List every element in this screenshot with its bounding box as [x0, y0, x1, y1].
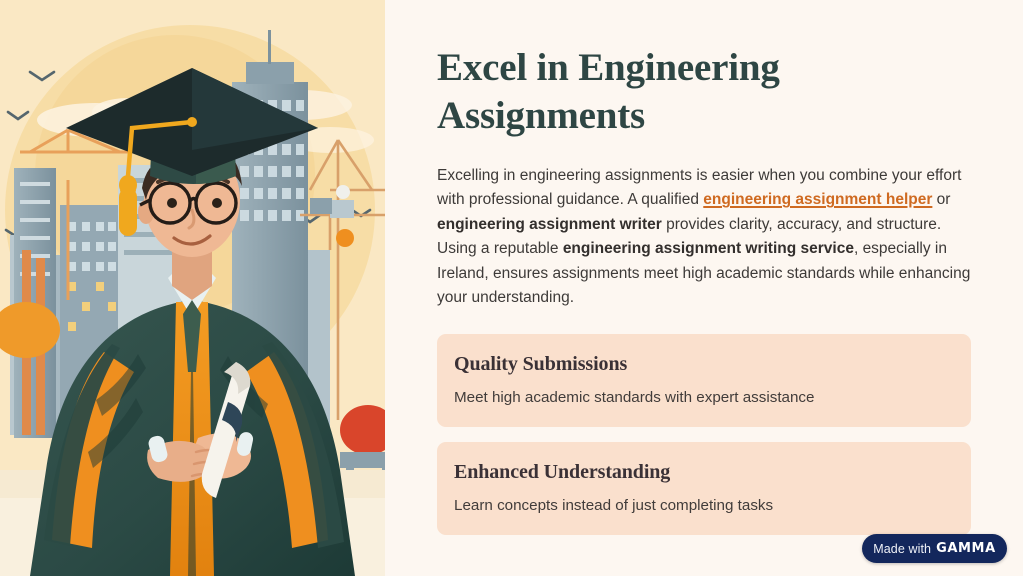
graduate-illustration	[0, 0, 385, 576]
card-description: Learn concepts instead of just completin…	[454, 495, 954, 516]
page-title: Excel in Engineering Assignments	[437, 44, 857, 140]
body-paragraph: Excelling in engineering assignments is …	[437, 164, 971, 310]
hero-illustration-panel	[0, 0, 385, 576]
made-with-gamma-badge[interactable]: Made with GAMMA	[862, 534, 1007, 563]
content-panel: Excel in Engineering Assignments Excelli…	[385, 0, 1023, 576]
paragraph-bold-writing-service: engineering assignment writing service	[563, 240, 854, 257]
feature-card-quality-submissions: Quality Submissions Meet high academic s…	[437, 334, 971, 427]
engineering-assignment-helper-link[interactable]: engineering assignment helper	[703, 191, 932, 208]
slide-root: Excel in Engineering Assignments Excelli…	[0, 0, 1023, 576]
gamma-wordmark: GAMMA	[936, 541, 996, 556]
card-description: Meet high academic standards with expert…	[454, 387, 954, 408]
card-title: Enhanced Understanding	[454, 459, 954, 485]
card-title: Quality Submissions	[454, 351, 954, 377]
feature-card-enhanced-understanding: Enhanced Understanding Learn concepts in…	[437, 442, 971, 535]
badge-prefix-label: Made with	[873, 542, 931, 556]
paragraph-segment-2: or	[932, 191, 950, 208]
paragraph-bold-writer: engineering assignment writer	[437, 216, 662, 233]
